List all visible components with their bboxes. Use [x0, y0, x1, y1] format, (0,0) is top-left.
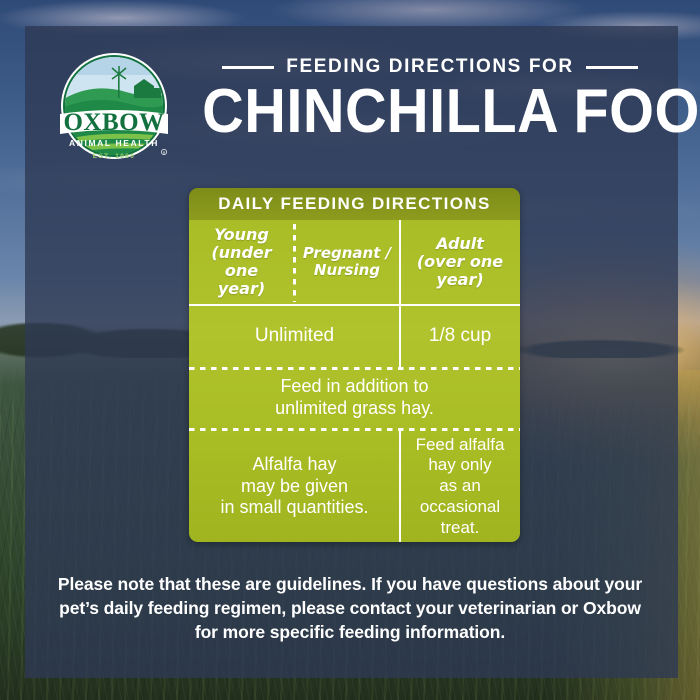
- grass-hay-note-line1: Feed in addition to: [275, 376, 434, 398]
- alfalfa-right-line1: Feed alfalfa: [416, 435, 505, 456]
- alfalfa-right-line5: treat.: [416, 518, 505, 539]
- rule-right: [586, 66, 638, 69]
- divider-alfalfa-columns: [399, 430, 401, 542]
- divider-amount-columns: [399, 306, 401, 368]
- alfalfa-left-line1: Alfalfa hay: [220, 454, 368, 476]
- header: OXBOW ANIMAL HEALTH EST. 1980 R FEEDING …: [25, 26, 678, 186]
- footer-note-line1: Please note that these are guidelines. I…: [40, 572, 660, 596]
- divider-young-pregnant: [293, 224, 296, 302]
- cell-pregnant-line2: Nursing: [303, 262, 391, 279]
- cell-adult-line2: (over one: [417, 253, 503, 271]
- table-title: DAILY FEEDING DIRECTIONS: [189, 188, 520, 220]
- cell-adult-line1: Adult: [417, 235, 503, 253]
- alfalfa-right-line2: hay only: [416, 455, 505, 476]
- alfalfa-left-line2: may be given: [220, 476, 368, 498]
- alfalfa-left-line3: in small quantities.: [220, 497, 368, 519]
- alfalfa-right-line3: as an: [416, 476, 505, 497]
- cell-young: Young (under one year): [189, 220, 294, 304]
- alfalfa-right-line4: occasional: [416, 497, 505, 518]
- infographic-canvas: OXBOW ANIMAL HEALTH EST. 1980 R FEEDING …: [0, 0, 700, 700]
- cell-pregnant-nursing: Pregnant / Nursing: [294, 220, 400, 304]
- divider-grasshay-alfalfa: [189, 428, 520, 431]
- rule-left: [222, 66, 274, 69]
- page-title: CHINCHILLA FOOD: [202, 82, 658, 143]
- cell-alfalfa-adult: Feed alfalfa hay only as an occasional t…: [400, 431, 520, 542]
- cell-amount-unlimited: Unlimited: [189, 305, 400, 367]
- oxbow-logo: OXBOW ANIMAL HEALTH EST. 1980 R: [52, 48, 176, 172]
- cell-young-line2: (under one: [193, 244, 290, 280]
- eyebrow-text: FEEDING DIRECTIONS FOR: [286, 56, 574, 78]
- table-body: Young (under one year) Pregnant / Nursin…: [189, 220, 520, 542]
- cell-young-line1: Young: [193, 226, 290, 244]
- cell-young-line3: year): [193, 280, 290, 298]
- table-row-alfalfa-notes: Alfalfa hay may be given in small quanti…: [189, 431, 520, 542]
- divider-pregnant-adult-header: [399, 220, 401, 305]
- table-row-age-groups: Young (under one year) Pregnant / Nursin…: [189, 220, 520, 304]
- divider-header-amounts: [189, 304, 520, 306]
- table-row-amounts: Unlimited 1/8 cup: [189, 305, 520, 367]
- cell-alfalfa-young-pregnant: Alfalfa hay may be given in small quanti…: [189, 431, 400, 542]
- divider-amounts-grasshay: [189, 367, 520, 370]
- footer-note: Please note that these are guidelines. I…: [40, 572, 660, 644]
- table-row-grass-hay-note: Feed in addition to unlimited grass hay.: [189, 369, 520, 427]
- grass-hay-note-line2: unlimited grass hay.: [275, 398, 434, 420]
- daily-feeding-directions-table: DAILY FEEDING DIRECTIONS Young (under on…: [189, 188, 520, 542]
- svg-text:OXBOW: OXBOW: [63, 109, 164, 136]
- cell-adult: Adult (over one year): [400, 220, 520, 304]
- svg-text:ANIMAL HEALTH: ANIMAL HEALTH: [69, 138, 159, 148]
- footer-note-line3: for more specific feeding information.: [40, 620, 660, 644]
- footer-note-line2: pet’s daily feeding regimen, please cont…: [40, 596, 660, 620]
- cell-adult-line3: year): [417, 271, 503, 289]
- cell-pregnant-line1: Pregnant /: [303, 245, 391, 262]
- cell-amount-eighth-cup: 1/8 cup: [400, 305, 520, 367]
- oxbow-logo-icon: OXBOW ANIMAL HEALTH EST. 1980 R: [52, 48, 176, 172]
- title-block: FEEDING DIRECTIONS FOR CHINCHILLA FOOD: [185, 56, 675, 143]
- eyebrow-row: FEEDING DIRECTIONS FOR: [185, 56, 675, 78]
- svg-text:EST. 1980: EST. 1980: [93, 153, 136, 160]
